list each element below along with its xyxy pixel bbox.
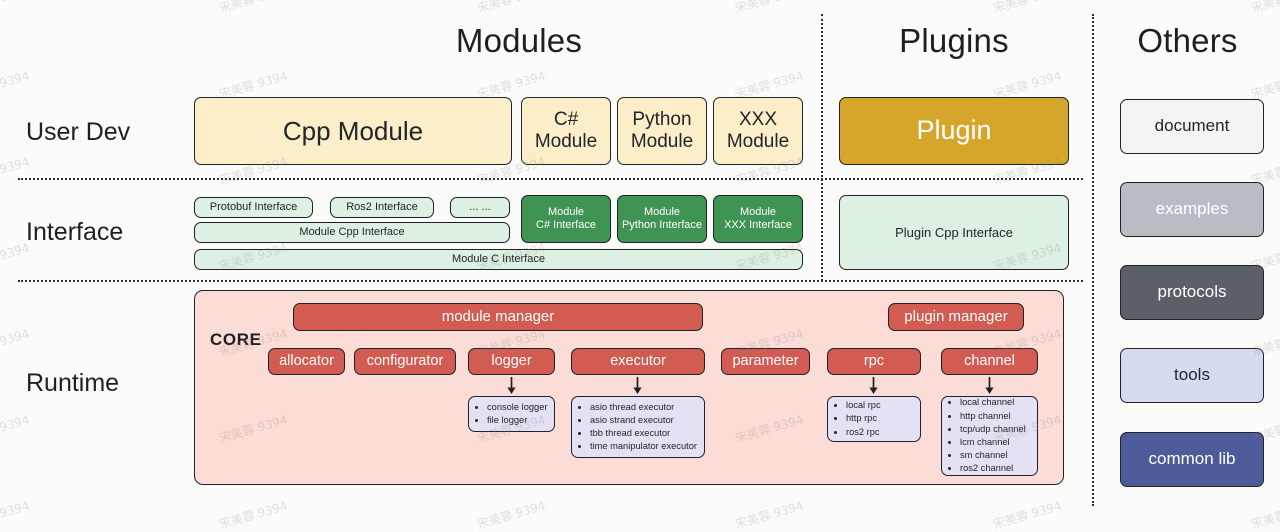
component-allocator[interactable]: allocator	[268, 348, 345, 375]
watermark-text: 宋美蓉 9394	[0, 325, 31, 361]
more-interface-box[interactable]: ... ...	[450, 197, 510, 218]
row-label-runtime: Runtime	[26, 369, 119, 398]
detail-item: sm channel	[960, 449, 1026, 462]
others-item-tools[interactable]: tools	[1120, 348, 1264, 403]
watermark-text: 宋美蓉 9394	[991, 497, 1063, 532]
detail-item: asio thread executor	[590, 401, 697, 414]
watermark-text: 宋美蓉 9394	[0, 411, 31, 447]
component-channel[interactable]: channel	[941, 348, 1038, 375]
watermark-text: 宋美蓉 9394	[0, 67, 31, 103]
module-csharp-interface-box[interactable]: Module C# Interface	[521, 195, 611, 243]
arrow-channel	[983, 377, 996, 395]
module-c-interface-box[interactable]: Module C Interface	[194, 249, 803, 270]
detail-item: ros2 rpc	[846, 426, 881, 439]
watermark-text: 宋美蓉 9394	[475, 497, 547, 532]
watermark-text: 宋美蓉 9394	[1249, 67, 1280, 103]
watermark-text: 宋美蓉 9394	[991, 0, 1063, 16]
core-label: CORE	[210, 330, 262, 350]
detail-item: tbb thread executor	[590, 427, 697, 440]
plugin-cpp-interface-box[interactable]: Plugin Cpp Interface	[839, 195, 1069, 270]
others-item-protocols[interactable]: protocols	[1120, 265, 1264, 320]
divider-interface-runtime	[18, 280, 1083, 282]
detail-item: ros2 channel	[960, 462, 1026, 475]
column-title-modules: Modules	[334, 22, 704, 60]
logger-details-list: console loggerfile logger	[474, 401, 547, 427]
xxx-module-box[interactable]: XXX Module	[713, 97, 803, 165]
row-label-interface: Interface	[26, 218, 123, 247]
component-logger[interactable]: logger	[468, 348, 555, 375]
detail-item: lcm channel	[960, 436, 1026, 449]
watermark-text: 宋美蓉 9394	[0, 497, 31, 532]
protobuf-interface-box[interactable]: Protobuf Interface	[194, 197, 313, 218]
divider-userdev-interface	[18, 178, 1083, 180]
watermark-text: 宋美蓉 9394	[475, 0, 547, 16]
module-cpp-interface-box[interactable]: Module Cpp Interface	[194, 222, 510, 243]
plugin-box[interactable]: Plugin	[839, 97, 1069, 165]
detail-item: console logger	[487, 401, 547, 414]
others-item-examples[interactable]: examples	[1120, 182, 1264, 237]
watermark-text: 宋美蓉 9394	[0, 0, 31, 16]
others-item-common-lib[interactable]: common lib	[1120, 432, 1264, 487]
column-title-plugins: Plugins	[824, 22, 1084, 60]
channel-details-list: local channelhttp channeltcp/udp channel…	[947, 396, 1026, 475]
executor-details-list: asio thread executorasio strand executor…	[577, 401, 697, 454]
detail-item: asio strand executor	[590, 414, 697, 427]
detail-item: local channel	[960, 396, 1026, 409]
detail-item: local rpc	[846, 399, 881, 412]
executor-details-box: asio thread executorasio strand executor…	[571, 396, 705, 458]
logger-details-box: console loggerfile logger	[468, 396, 555, 432]
rpc-details-list: local rpchttp rpcros2 rpc	[833, 399, 881, 439]
others-item-document[interactable]: document	[1120, 99, 1264, 154]
rpc-details-box: local rpchttp rpcros2 rpc	[827, 396, 921, 442]
detail-item: file logger	[487, 414, 547, 427]
watermark-text: 宋美蓉 9394	[1249, 0, 1280, 16]
component-rpc[interactable]: rpc	[827, 348, 921, 375]
component-configurator[interactable]: configurator	[354, 348, 456, 375]
detail-item: tcp/udp channel	[960, 423, 1026, 436]
python-module-box[interactable]: Python Module	[617, 97, 707, 165]
arrow-rpc	[867, 377, 880, 395]
module-xxx-interface-box[interactable]: Module XXX Interface	[713, 195, 803, 243]
detail-item: time manipulator executor	[590, 440, 697, 453]
column-title-others: Others	[1100, 22, 1275, 60]
watermark-text: 宋美蓉 9394	[217, 497, 289, 532]
watermark-text: 宋美蓉 9394	[733, 0, 805, 16]
watermark-text: 宋美蓉 9394	[217, 0, 289, 16]
watermark-text: 宋美蓉 9394	[0, 153, 31, 189]
arrow-logger	[505, 377, 518, 395]
watermark-text: 宋美蓉 9394	[733, 497, 805, 532]
component-executor[interactable]: executor	[571, 348, 705, 375]
watermark-text: 宋美蓉 9394	[1249, 497, 1280, 532]
divider-plugins-others	[1092, 14, 1094, 506]
arrow-executor	[631, 377, 644, 395]
divider-modules-plugins	[821, 14, 823, 281]
plugin-manager-box[interactable]: plugin manager	[888, 303, 1024, 331]
csharp-module-box[interactable]: C# Module	[521, 97, 611, 165]
module-python-interface-box[interactable]: Module Python Interface	[617, 195, 707, 243]
detail-item: http rpc	[846, 412, 881, 425]
ros2-interface-box[interactable]: Ros2 Interface	[330, 197, 434, 218]
channel-details-box: local channelhttp channeltcp/udp channel…	[941, 396, 1038, 476]
detail-item: http channel	[960, 410, 1026, 423]
module-manager-box[interactable]: module manager	[293, 303, 703, 331]
component-parameter[interactable]: parameter	[721, 348, 810, 375]
cpp-module-box[interactable]: Cpp Module	[194, 97, 512, 165]
row-label-user-dev: User Dev	[26, 118, 130, 147]
